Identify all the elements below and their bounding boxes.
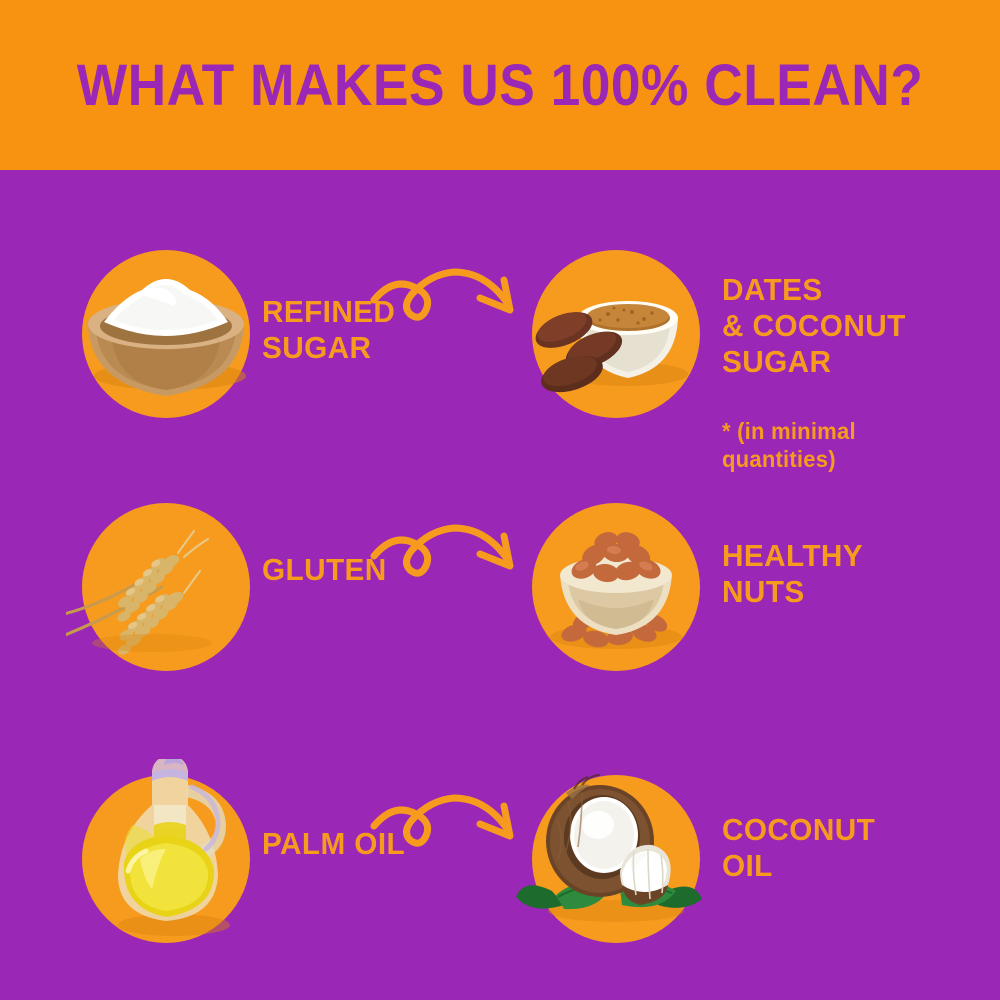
label-dates-coconut-sugar: DATES & COCONUT SUGAR [722,272,906,380]
note-minimal-quantities: * (in minimal quantities) [722,418,856,473]
curly-loop-arrow-icon [368,788,538,858]
comparison-board: REFINED SUGAR [0,170,1000,1000]
label-healthy-nuts: HEALTHY NUTS [722,538,863,610]
label-line: SUGAR [722,344,906,380]
comparison-row-palm-oil: PALM OIL [0,760,1000,990]
badge-palm-oil [82,775,250,943]
label-line: SUGAR [262,330,395,366]
coconut-halves-with-leaves-icon [516,759,716,959]
bowl-of-white-sugar-icon [66,234,266,434]
label-line: COCONUT [722,812,875,848]
note-line: quantities) [722,446,856,474]
label-line: NUTS [722,574,863,610]
label-line: HEALTHY [722,538,863,574]
badge-dates-coconut-sugar [532,250,700,418]
page-title: WHAT MAKES US 100% CLEAN? [77,52,924,119]
label-line: & COCONUT [722,308,906,344]
curly-loop-arrow-icon [368,518,538,588]
label-line: OIL [722,848,875,884]
oil-cruet-icon [66,759,266,959]
dates-and-coconut-sugar-bowl-icon [516,234,716,434]
badge-healthy-nuts [532,503,700,671]
badge-refined-sugar [82,250,250,418]
bowl-of-almonds-icon [516,487,716,687]
comparison-row-gluten: GLUTEN [0,490,1000,720]
wheat-stalks-icon [66,487,266,687]
curly-loop-arrow-icon [368,262,538,332]
comparison-row-refined-sugar: REFINED SUGAR [0,230,1000,510]
note-line: * (in minimal [722,418,856,446]
badge-gluten [82,503,250,671]
header-banner: WHAT MAKES US 100% CLEAN? [0,0,1000,170]
label-line: DATES [722,272,906,308]
badge-coconut-oil [532,775,700,943]
label-coconut-oil: COCONUT OIL [722,812,875,884]
